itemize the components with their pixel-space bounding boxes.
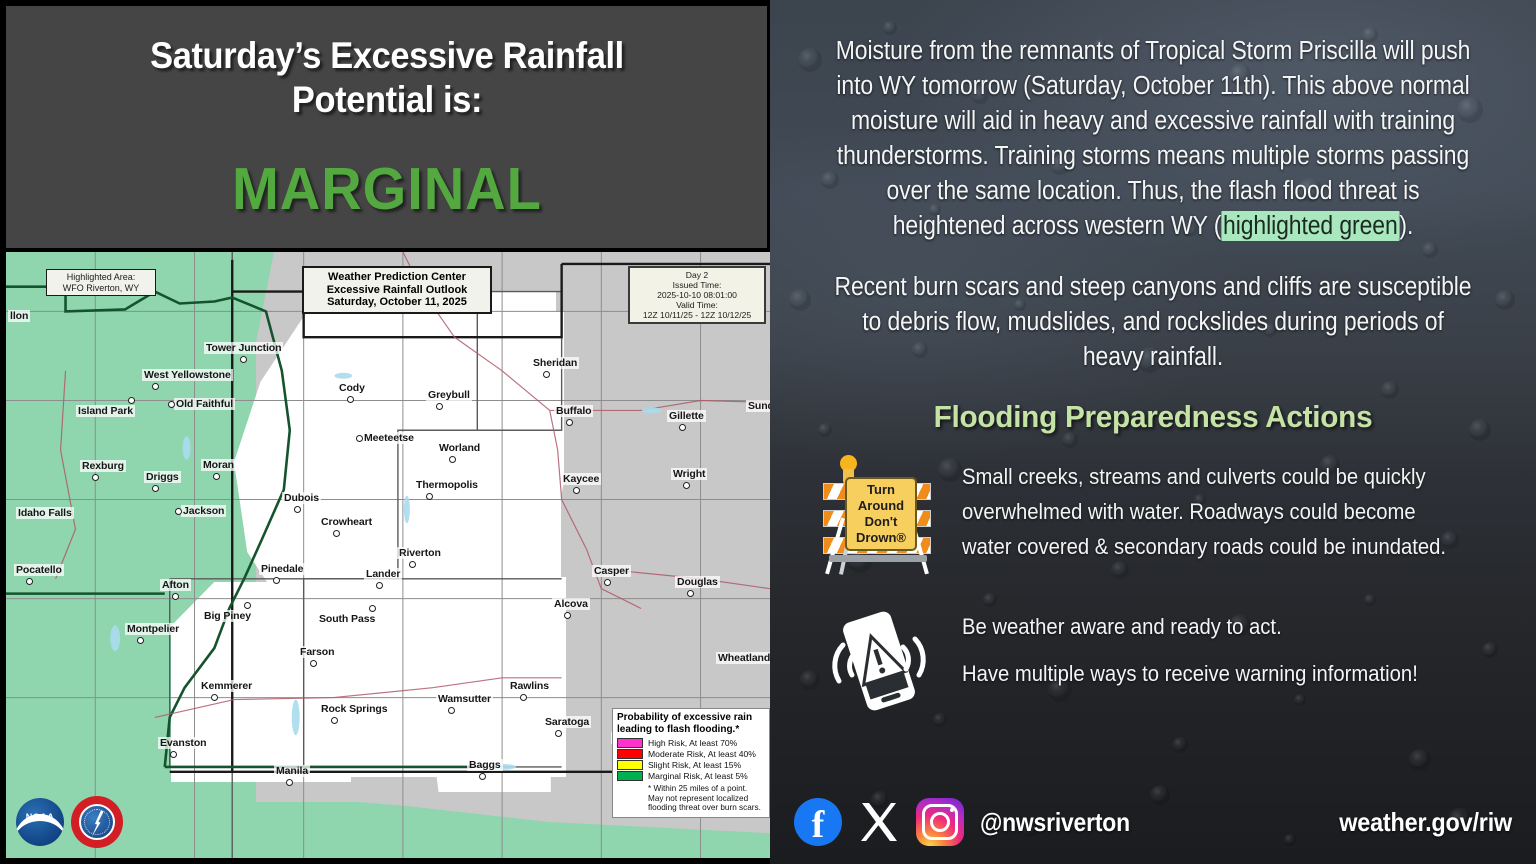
map-city-label: Wamsutter [436,693,493,705]
map-city-label: Driggs [144,471,181,483]
tadd-line-4: Drown® [856,530,906,546]
map-city-dot [331,717,338,724]
highlighted-green-phrase: highlighted green [1221,211,1399,241]
legend-row: High Risk, At least 70% [617,738,765,748]
map-city-label: Lander [364,568,402,580]
map-city-label: Crowheart [319,516,374,528]
title-block: Saturday’s Excessive Rainfall Potential … [0,0,770,248]
map-city-label: llon [8,310,30,322]
left-column: Saturday’s Excessive Rainfall Potential … [0,0,770,864]
legend-note-line-1: * Within 25 miles of a point. [648,784,765,794]
action-item-roadways: Turn Around Don't Drown® Small creeks, s… [796,455,1510,583]
risk-level-label: MARGINAL [232,155,542,223]
map-city-dot [244,602,251,609]
map-city-dot [333,530,340,537]
map-city-dot [564,612,571,619]
map-city-dot [448,707,455,714]
legend-swatch [617,738,643,748]
wpc-line-3: Saturday, October 11, 2025 [308,296,486,309]
action-1-icon-wrap: Turn Around Don't Drown® [814,455,944,583]
map-city-label: Manila [274,765,310,777]
map-city-label: Island Park [76,405,135,417]
map-canvas: Highlighted Area: WFO Riverton, WY Weath… [6,252,770,858]
map-city-label: Greybull [426,389,472,401]
legend-label: Slight Risk, At least 15% [648,760,741,770]
map-city-label: Pocatello [14,564,64,576]
legend-row: Slight Risk, At least 15% [617,760,765,770]
map-city-label: Dubois [282,492,321,504]
map-city-dot [240,356,247,363]
map-city-label: Kaycee [561,473,601,485]
map-city-label: Alcova [552,598,590,610]
map-legend: Probability of excessive rain leading to… [612,708,770,818]
map-city-label: Cody [337,382,367,394]
highlighted-area-line-2: WFO Riverton, WY [50,283,152,294]
facebook-icon[interactable]: f [794,798,842,846]
map-city-label: Riverton [397,547,443,559]
map-city-label: Casper [592,565,631,577]
map-city-label: Worland [437,442,482,454]
legend-swatch [617,760,643,770]
legend-row: Marginal Risk, At least 5% [617,771,765,781]
map-city-dot [152,383,159,390]
map-city-dot [175,508,182,515]
weather-graphic: Saturday’s Excessive Rainfall Potential … [0,0,1536,864]
legend-row: Moderate Risk, At least 40% [617,749,765,759]
map-city-label: Afton [160,579,191,591]
legend-title-line-2: leading to flash flooding.* [617,724,765,736]
turn-around-dont-drown-barricade-icon: Turn Around Don't Drown® [819,455,939,583]
map-city-dot [356,435,363,442]
map-city-label: Rexburg [80,460,126,472]
map-city-dot [679,424,686,431]
action-1-text: Small creeks, streams and culverts could… [962,455,1455,564]
issued-time-label: Issued Time: [633,280,761,290]
tadd-sign-plate: Turn Around Don't Drown® [845,477,917,551]
legend-rows: High Risk, At least 70%Moderate Risk, At… [617,738,765,781]
title-line-2: Potential is: [80,78,694,122]
map-city-dot [286,779,293,786]
wpc-title-box: Weather Prediction Center Excessive Rain… [302,266,492,314]
map-city-label: Sund [746,400,770,412]
legend-label: Marginal Risk, At least 5% [648,771,748,781]
x-twitter-icon[interactable] [856,799,902,845]
map-city-dot [294,506,301,513]
map-city-dot [376,582,383,589]
map-city-label: Buffalo [554,405,593,417]
valid-time-value: 12Z 10/11/25 - 12Z 10/12/25 [633,310,761,320]
map-city-dot [168,401,175,408]
discussion-paragraph-2: Recent burn scars and steep canyons and … [832,270,1475,375]
discussion-paragraph-1: Moisture from the remnants of Tropical S… [832,34,1475,244]
legend-swatch [617,771,643,781]
map-city-label: Evanston [158,737,208,749]
legend-label: High Risk, At least 70% [648,738,737,748]
map-city-dot [520,694,527,701]
panel-content: Moisture from the remnants of Tropical S… [770,0,1536,717]
action-1-paragraph: Small creeks, streams and culverts could… [962,459,1455,564]
wpc-line-1: Weather Prediction Center [308,271,486,284]
paragraph-1-text-a: Moisture from the remnants of Tropical S… [836,37,1471,240]
phone-alert-icon [821,605,937,717]
map-city-label: Jackson [181,505,226,517]
map-city-dot [128,397,135,404]
highlighted-area-box: Highlighted Area: WFO Riverton, WY [46,269,156,296]
map-city-dot [687,590,694,597]
map-city-label: Thermopolis [414,479,480,491]
map-city-label: Big Piney [202,610,253,622]
social-icons: f [794,798,964,846]
map-city-label: Saratoga [543,716,591,728]
map-city-dot [137,637,144,644]
social-handle: @nwsriverton [980,807,1130,838]
map-city-dot [170,751,177,758]
legend-note-line-3: flooding threat over burn scars. [648,803,765,813]
page-title: Saturday’s Excessive Rainfall Potential … [80,34,694,121]
action-2-text: Be weather aware and ready to act. Have … [962,605,1418,691]
map-city-dot [213,473,220,480]
map-city-label: Tower Junction [204,342,283,354]
action-2-line-1: Be weather aware and ready to act. [962,609,1418,644]
map-city-label: Pinedale [259,563,305,575]
map-city-dot [369,605,376,612]
map-city-label: Meeteetse [362,432,416,444]
map-city-dot [543,371,550,378]
map-city-dot [26,578,33,585]
day-number: Day 2 [633,270,761,280]
noaa-logo-icon: NOAA [16,798,64,846]
legend-note: * Within 25 miles of a point. May not re… [648,784,765,813]
map-city-dot [92,474,99,481]
map-city-dot [347,396,354,403]
map-city-dot [211,694,218,701]
map-city-dot [479,773,486,780]
map-city-label: Rawlins [508,680,551,692]
map-city-label: Rock Springs [319,703,389,715]
map-city-label: Gillette [667,410,706,422]
map-city-label: Kemmerer [199,680,254,692]
map-city-label: West Yellowstone [142,369,233,381]
map-city-label: Idaho Falls [16,507,74,519]
map-city-dot [436,403,443,410]
map-city-label: Baggs [467,759,503,771]
map-city-dot [273,577,280,584]
legend-label: Moderate Risk, At least 40% [648,749,756,759]
legend-note-line-2: May not represent localized [648,794,765,804]
action-item-weather-aware: Be weather aware and ready to act. Have … [796,605,1510,717]
map-city-label: Old Faithful [174,398,235,410]
website-url: weather.gov/riw [1339,807,1512,838]
tadd-line-3: Don't [865,514,898,530]
section-heading-preparedness: Flooding Preparedness Actions [810,399,1495,435]
map-city-dot [426,493,433,500]
map-city-label: Wheatland [716,652,770,664]
right-panel: Moisture from the remnants of Tropical S… [770,0,1536,864]
wpc-line-2: Excessive Rainfall Outlook [308,284,486,297]
action-2-icon-wrap [814,605,944,717]
action-2-line-2: Have multiple ways to receive warning in… [962,656,1418,691]
map-city-label: Moran [201,459,236,471]
excessive-rainfall-outlook-map[interactable]: Highlighted Area: WFO Riverton, WY Weath… [0,252,770,864]
paragraph-1-text-b: ). [1399,212,1413,240]
map-city-dot [152,485,159,492]
map-city-label: Farson [298,646,336,658]
map-city-label: Sheridan [531,357,579,369]
tadd-line-2: Around [858,498,904,514]
tadd-line-1: Turn [867,482,895,498]
instagram-icon[interactable] [916,798,964,846]
map-city-label: South Pass [317,613,377,625]
legend-swatch [617,749,643,759]
national-weather-service-logo-icon [71,796,123,848]
map-city-dot [449,456,456,463]
map-city-dot [555,730,562,737]
footer-bar: f @nwsriverton weather.gov/riw [770,780,1536,864]
highlighted-area-line-1: Highlighted Area: [50,272,152,283]
title-line-1: Saturday’s Excessive Rainfall [80,34,694,78]
valid-time-label: Valid Time: [633,300,761,310]
map-city-dot [310,660,317,667]
map-city-dot [604,579,611,586]
map-city-label: Douglas [675,576,720,588]
issued-time-value: 2025-10-10 08:01:00 [633,290,761,300]
map-city-dot [172,593,179,600]
map-city-label: Montpelier [125,623,181,635]
map-city-dot [409,561,416,568]
legend-title: Probability of excessive rain leading to… [617,712,765,735]
day-validity-box: Day 2 Issued Time: 2025-10-10 08:01:00 V… [628,266,766,324]
map-city-dot [683,482,690,489]
legend-title-line-1: Probability of excessive rain [617,712,765,724]
map-city-label: Wright [671,468,707,480]
map-city-dot [573,487,580,494]
map-city-dot [566,419,573,426]
